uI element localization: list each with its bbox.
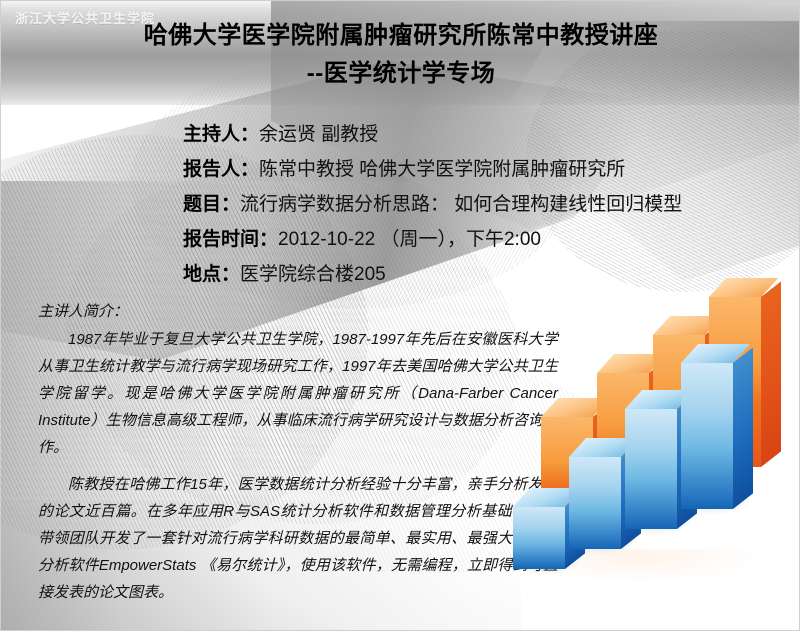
- bar-chart-graphic: [535, 319, 785, 579]
- title-line-1: 哈佛大学医学院附属肿瘤研究所陈常中教授讲座: [1, 17, 800, 55]
- info-value-host: 余运贤 副教授: [259, 124, 378, 145]
- info-label-time: 报告时间：: [183, 229, 278, 250]
- speaker-biography: 主讲人简介： 1987年毕业于复旦大学公共卫生学院，1987-1997年先后在安…: [38, 299, 558, 606]
- bar-front-face: [569, 457, 621, 549]
- bar-front-face: [681, 363, 733, 509]
- bio-heading: 主讲人简介：: [38, 299, 558, 325]
- info-label-topic: 题目：: [183, 194, 240, 215]
- info-row-speaker: 报告人：陈常中教授 哈佛大学医学院附属肿瘤研究所: [183, 152, 783, 187]
- info-label-host: 主持人：: [183, 124, 259, 145]
- chart-bar-blue-2: [569, 457, 621, 549]
- page-title: 哈佛大学医学院附属肿瘤研究所陈常中教授讲座 --医学统计学专场: [1, 17, 800, 93]
- bar-side-face: [733, 347, 753, 509]
- info-row-time: 报告时间：2012-10-22 （周一），下午2:00: [183, 222, 783, 257]
- lecture-poster: 浙江大学公共卫生学院 哈佛大学医学院附属肿瘤研究所陈常中教授讲座 --医学统计学…: [0, 0, 800, 631]
- bio-paragraph-2: 陈教授在哈佛工作15年，医学数据统计分析经验十分丰富，亲手分析发表的论文近百篇。…: [38, 471, 558, 606]
- bio-paragraph-1: 1987年毕业于复旦大学公共卫生学院，1987-1997年先后在安徽医科大学从事…: [38, 326, 558, 461]
- info-value-speaker: 陈常中教授 哈佛大学医学院附属肿瘤研究所: [259, 159, 625, 180]
- info-label-speaker: 报告人：: [183, 159, 259, 180]
- chart-bar-blue-3: [625, 409, 677, 529]
- lecture-info-list: 主持人：余运贤 副教授 报告人：陈常中教授 哈佛大学医学院附属肿瘤研究所 题目：…: [183, 117, 783, 292]
- chart-bar-blue-4: [681, 363, 733, 509]
- info-value-topic: 流行病学数据分析思路： 如何合理构建线性回归模型: [240, 194, 682, 215]
- bar-front-face: [625, 409, 677, 529]
- info-value-time: 2012-10-22 （周一），下午2:00: [278, 229, 541, 250]
- info-value-venue: 医学院综合楼205: [240, 264, 386, 285]
- info-row-host: 主持人：余运贤 副教授: [183, 117, 783, 152]
- title-line-2: --医学统计学专场: [1, 55, 800, 93]
- info-row-venue: 地点：医学院综合楼205: [183, 257, 783, 292]
- bar-front-face: [513, 507, 565, 569]
- bar-side-face: [761, 281, 781, 467]
- info-row-topic: 题目：流行病学数据分析思路： 如何合理构建线性回归模型: [183, 187, 783, 222]
- chart-bar-blue-1: [513, 507, 565, 569]
- info-label-venue: 地点：: [183, 264, 240, 285]
